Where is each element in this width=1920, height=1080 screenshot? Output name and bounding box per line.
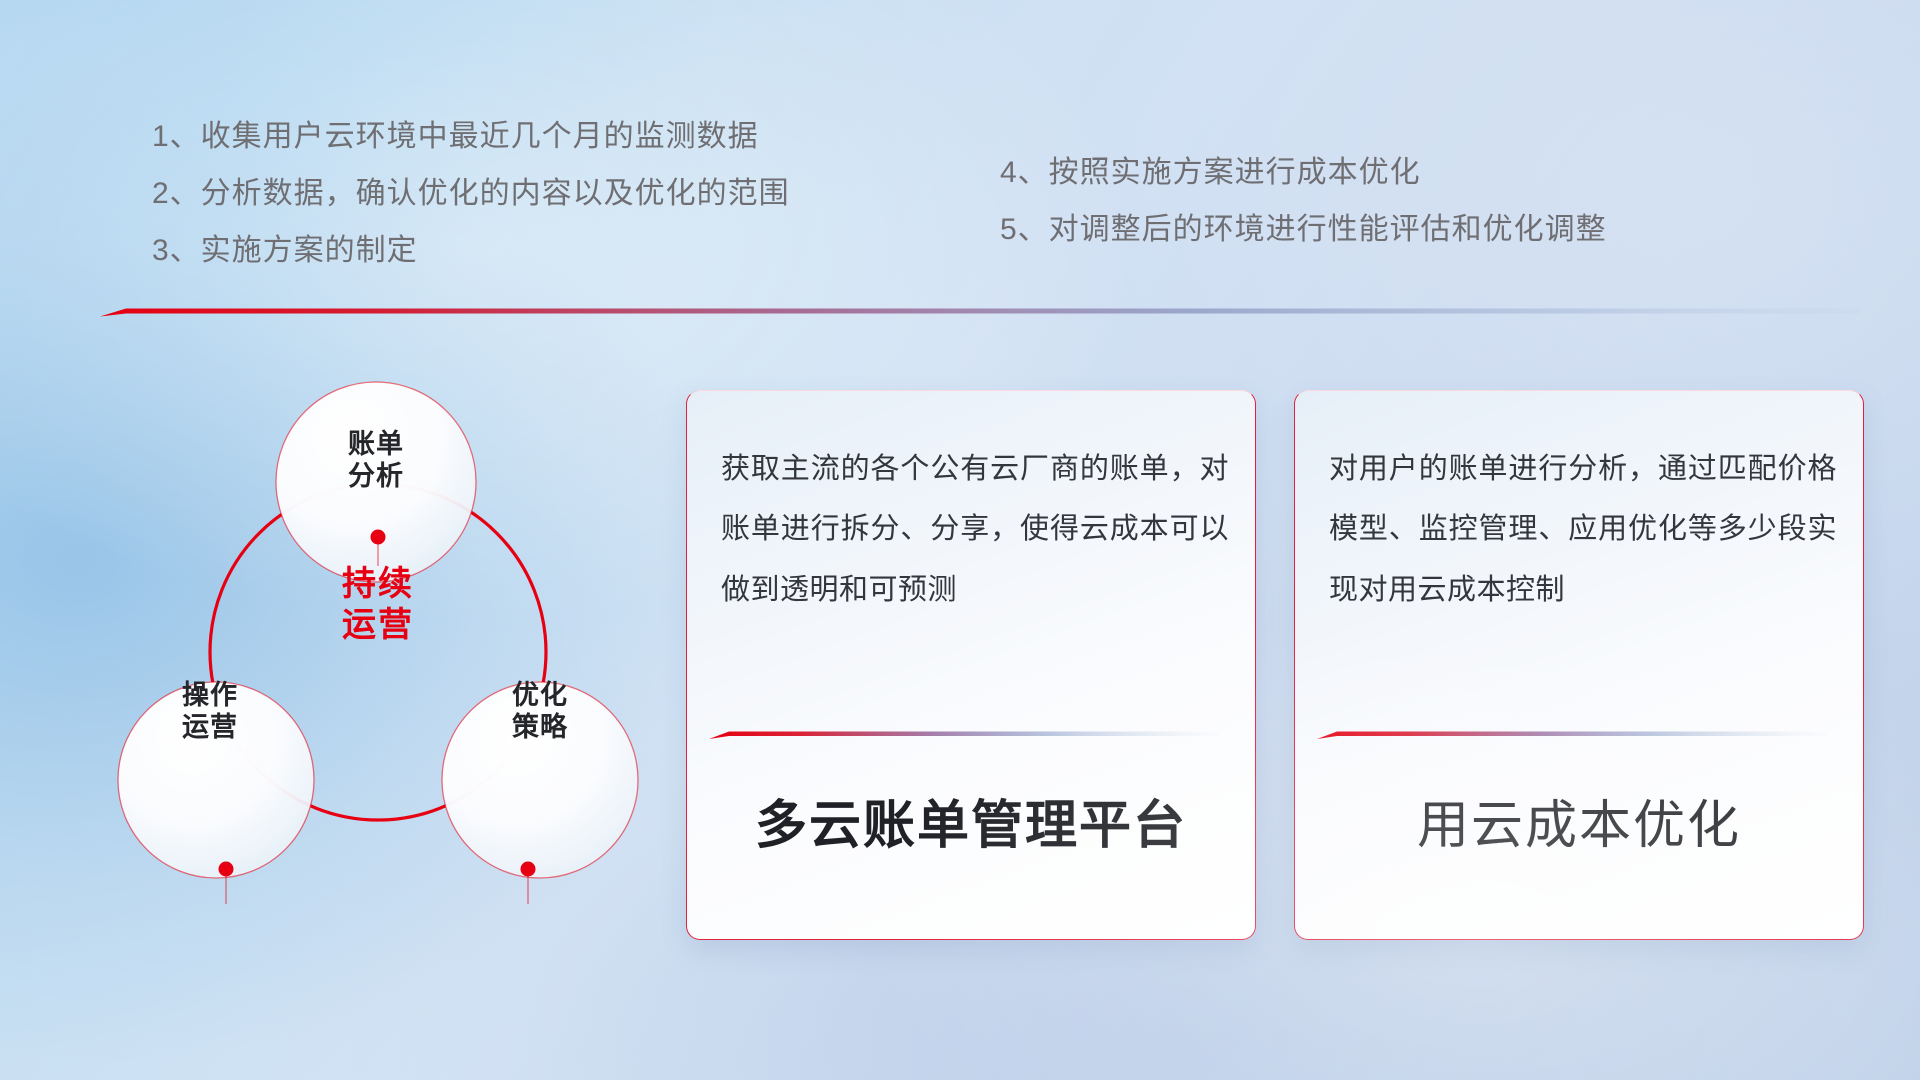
card-accent-rule (1317, 729, 1827, 741)
steps-left-column: 1、收集用户云环境中最近几个月的监测数据 2、分析数据，确认优化的内容以及优化的… (152, 122, 790, 266)
step-item-3: 3、实施方案的制定 (152, 236, 790, 266)
card-multi-cloud-bill-platform[interactable]: 获取主流的各个公有云厂商的账单，对账单进行拆分、分享，使得云成本可以做到透明和可… (686, 390, 1256, 940)
diagram-center-label: 持续 运营 (288, 564, 468, 646)
slide-canvas: 1、收集用户云环境中最近几个月的监测数据 2、分析数据，确认优化的内容以及优化的… (0, 0, 1920, 1080)
node-dot-bottom-left (219, 862, 234, 905)
step-item-1: 1、收集用户云环境中最近几个月的监测数据 (152, 122, 790, 152)
step-item-5: 5、对调整后的环境进行性能评估和优化调整 (1000, 215, 1607, 245)
continuous-operation-diagram: 账单 分析 操作 运营 优化 策略 持续 运营 (88, 352, 668, 952)
node-dot-bottom-right (521, 862, 536, 905)
card-title: 多云账单管理平台 (687, 783, 1255, 858)
step-item-2: 2、分析数据，确认优化的内容以及优化的范围 (152, 179, 790, 209)
card-cloud-cost-optimization[interactable]: 对用户的账单进行分析，通过匹配价格模型、监控管理、应用优化等多少段实现对用云成本… (1294, 390, 1864, 940)
steps-right-column: 4、按照实施方案进行成本优化 5、对调整后的环境进行性能评估和优化调整 (1000, 158, 1607, 245)
card-title: 用云成本优化 (1295, 783, 1863, 858)
card-accent-rule (709, 729, 1219, 741)
bubble-label-optimization: 优化 策略 (460, 680, 620, 744)
card-body-text: 对用户的账单进行分析，通过匹配价格模型、监控管理、应用优化等多少段实现对用云成本… (1329, 439, 1837, 620)
step-item-4: 4、按照实施方案进行成本优化 (1000, 158, 1607, 188)
bubble-label-bill-analysis: 账单 分析 (296, 429, 456, 493)
card-body-text: 获取主流的各个公有云厂商的账单，对账单进行拆分、分享，使得云成本可以做到透明和可… (721, 439, 1229, 620)
section-divider (100, 306, 1860, 318)
bubble-label-operation: 操作 运营 (130, 680, 290, 744)
